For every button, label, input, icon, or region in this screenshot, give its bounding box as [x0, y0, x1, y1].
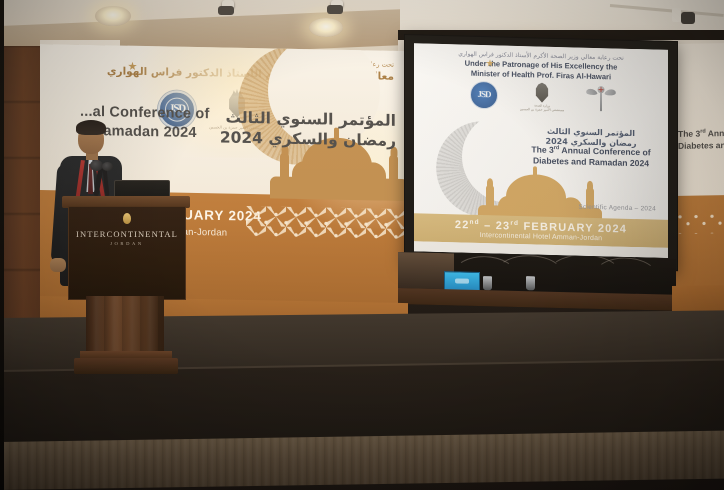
- slide-title-en-line2: Diabetes and Ramadan 2024: [533, 156, 649, 169]
- slide-jsd-monogram: JSD: [471, 89, 497, 100]
- slide-date-23: – 23: [480, 220, 510, 233]
- projection-screen-frame: تحت رعاية معالي وزير الصحة الأكرم الأستا…: [404, 34, 678, 271]
- head-table-area: [398, 252, 676, 311]
- podium-front-panel: INTERCONTINENTAL JORDAN: [68, 206, 186, 300]
- slide-logo-row: JSD وزارة الصحة مستشفى الأمير حمزة بن ال…: [470, 81, 616, 119]
- lectern-podium: INTERCONTINENTAL JORDAN: [62, 196, 190, 376]
- ceiling-spotlight-icon: [331, 0, 343, 8]
- microphone-head-icon: [102, 162, 113, 171]
- slide-title-en-b: Annual Conference of: [559, 145, 650, 157]
- podium-brand-name: INTERCONTINENTAL: [69, 229, 185, 239]
- slide-date-23-ordinal: rd: [510, 220, 519, 227]
- backdrop-title-arabic: المؤتمر السنوي الثالث رمضان والسكري 2024: [216, 107, 396, 151]
- side-banner-panel: The 3rd AnnuaDiabetes and: [672, 43, 724, 302]
- slide-caduceus-logo-icon: [586, 84, 616, 113]
- side-banner-pattern: [672, 209, 724, 234]
- side-banner-title-b: Annua: [706, 128, 724, 138]
- side-banner-title: The 3rd AnnuaDiabetes and: [678, 127, 724, 153]
- islamic-pattern-band-overlay: [246, 206, 408, 239]
- intercontinental-emblem-icon: [123, 213, 131, 224]
- side-banner-title-line2: Diabetes and: [678, 140, 724, 151]
- track-spotlight-head-icon: [681, 12, 695, 24]
- ceiling-downlight-icon: [309, 18, 343, 37]
- slide-date-22-ordinal: nd: [470, 219, 480, 226]
- slide-ministry-of-health-logo-icon: وزارة الصحة مستشفى الأمير حمزة بن الحسين: [531, 82, 553, 115]
- speaker-glasses-icon: [78, 133, 104, 139]
- slide-title-en-a: The 3: [531, 144, 553, 155]
- podium-base: [74, 358, 178, 374]
- side-banner-title-a: The 3: [678, 129, 700, 139]
- presentation-slide: تحت رعاية معالي وزير الصحة الأكرم الأستا…: [414, 43, 668, 258]
- slide-date-22: 22: [455, 219, 470, 231]
- ceiling-downlight-icon: [95, 6, 131, 26]
- floor-texture: [0, 431, 724, 490]
- podium-brand-location: JORDAN: [69, 241, 185, 246]
- image-left-border: [0, 0, 4, 490]
- slide-title-ar-line1: المؤتمر السنوي الثالث: [547, 127, 635, 138]
- projection-screen: تحت رعاية معالي وزير الصحة الأكرم الأستا…: [414, 43, 668, 258]
- conference-photo-scene: تحت رعاية معالي وزير الصحة الأكرم الأستا…: [0, 0, 724, 490]
- slide-moh-caption2: مستشفى الأمير حمزة بن الحسين: [515, 107, 569, 112]
- track-spotlight-icon: [672, 8, 681, 22]
- ceiling-spotlight-icon: [222, 0, 234, 9]
- slide-title-english: The 3rd Annual Conference of Diabetes an…: [522, 144, 660, 170]
- slide-jsd-logo-icon: JSD: [470, 81, 498, 110]
